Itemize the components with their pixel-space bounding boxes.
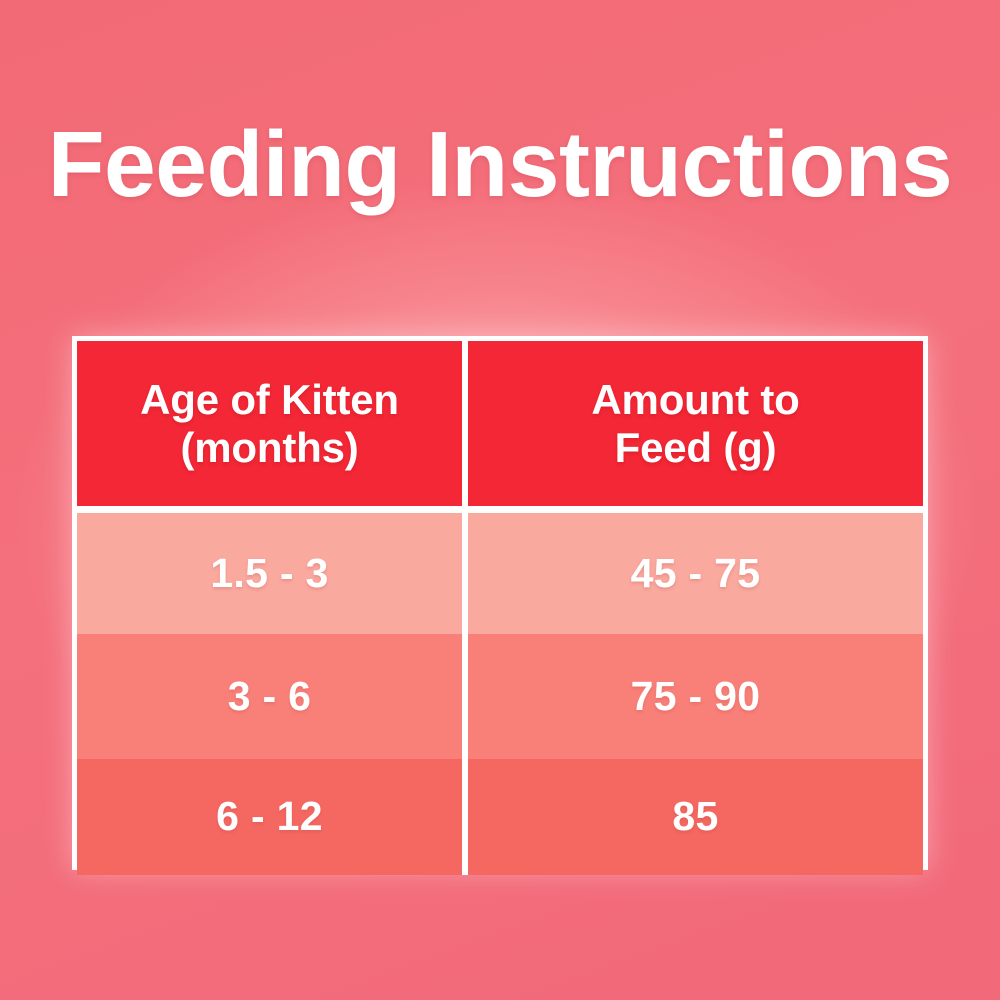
column-header-age-line1: Age of Kitten: [140, 376, 399, 423]
table-row: 3 - 6 75 - 90: [77, 634, 923, 759]
cell-amount: 75 - 90: [468, 634, 923, 759]
feeding-table: Age of Kitten (months) Amount to Feed (g…: [72, 336, 928, 870]
header-separator: [77, 506, 923, 513]
title-area: Feeding Instructions: [0, 118, 1000, 211]
column-header-amount-line1: Amount to: [591, 376, 799, 423]
column-header-age-line2: (months): [180, 424, 358, 471]
cell-amount: 45 - 75: [468, 513, 923, 634]
column-header-amount-line2: Feed (g): [615, 424, 777, 471]
column-header-amount: Amount to Feed (g): [468, 341, 923, 506]
page-title: Feeding Instructions: [0, 118, 1000, 211]
column-header-age: Age of Kitten (months): [77, 341, 462, 506]
cell-amount: 85: [468, 759, 923, 875]
cell-age: 6 - 12: [77, 759, 462, 875]
table-row: 1.5 - 3 45 - 75: [77, 513, 923, 634]
cell-age: 1.5 - 3: [77, 513, 462, 634]
table-header-row: Age of Kitten (months) Amount to Feed (g…: [77, 341, 923, 506]
cell-age: 3 - 6: [77, 634, 462, 759]
table-row: 6 - 12 85: [77, 759, 923, 875]
feeding-instructions-poster: Feeding Instructions Age of Kitten (mont…: [0, 0, 1000, 1000]
